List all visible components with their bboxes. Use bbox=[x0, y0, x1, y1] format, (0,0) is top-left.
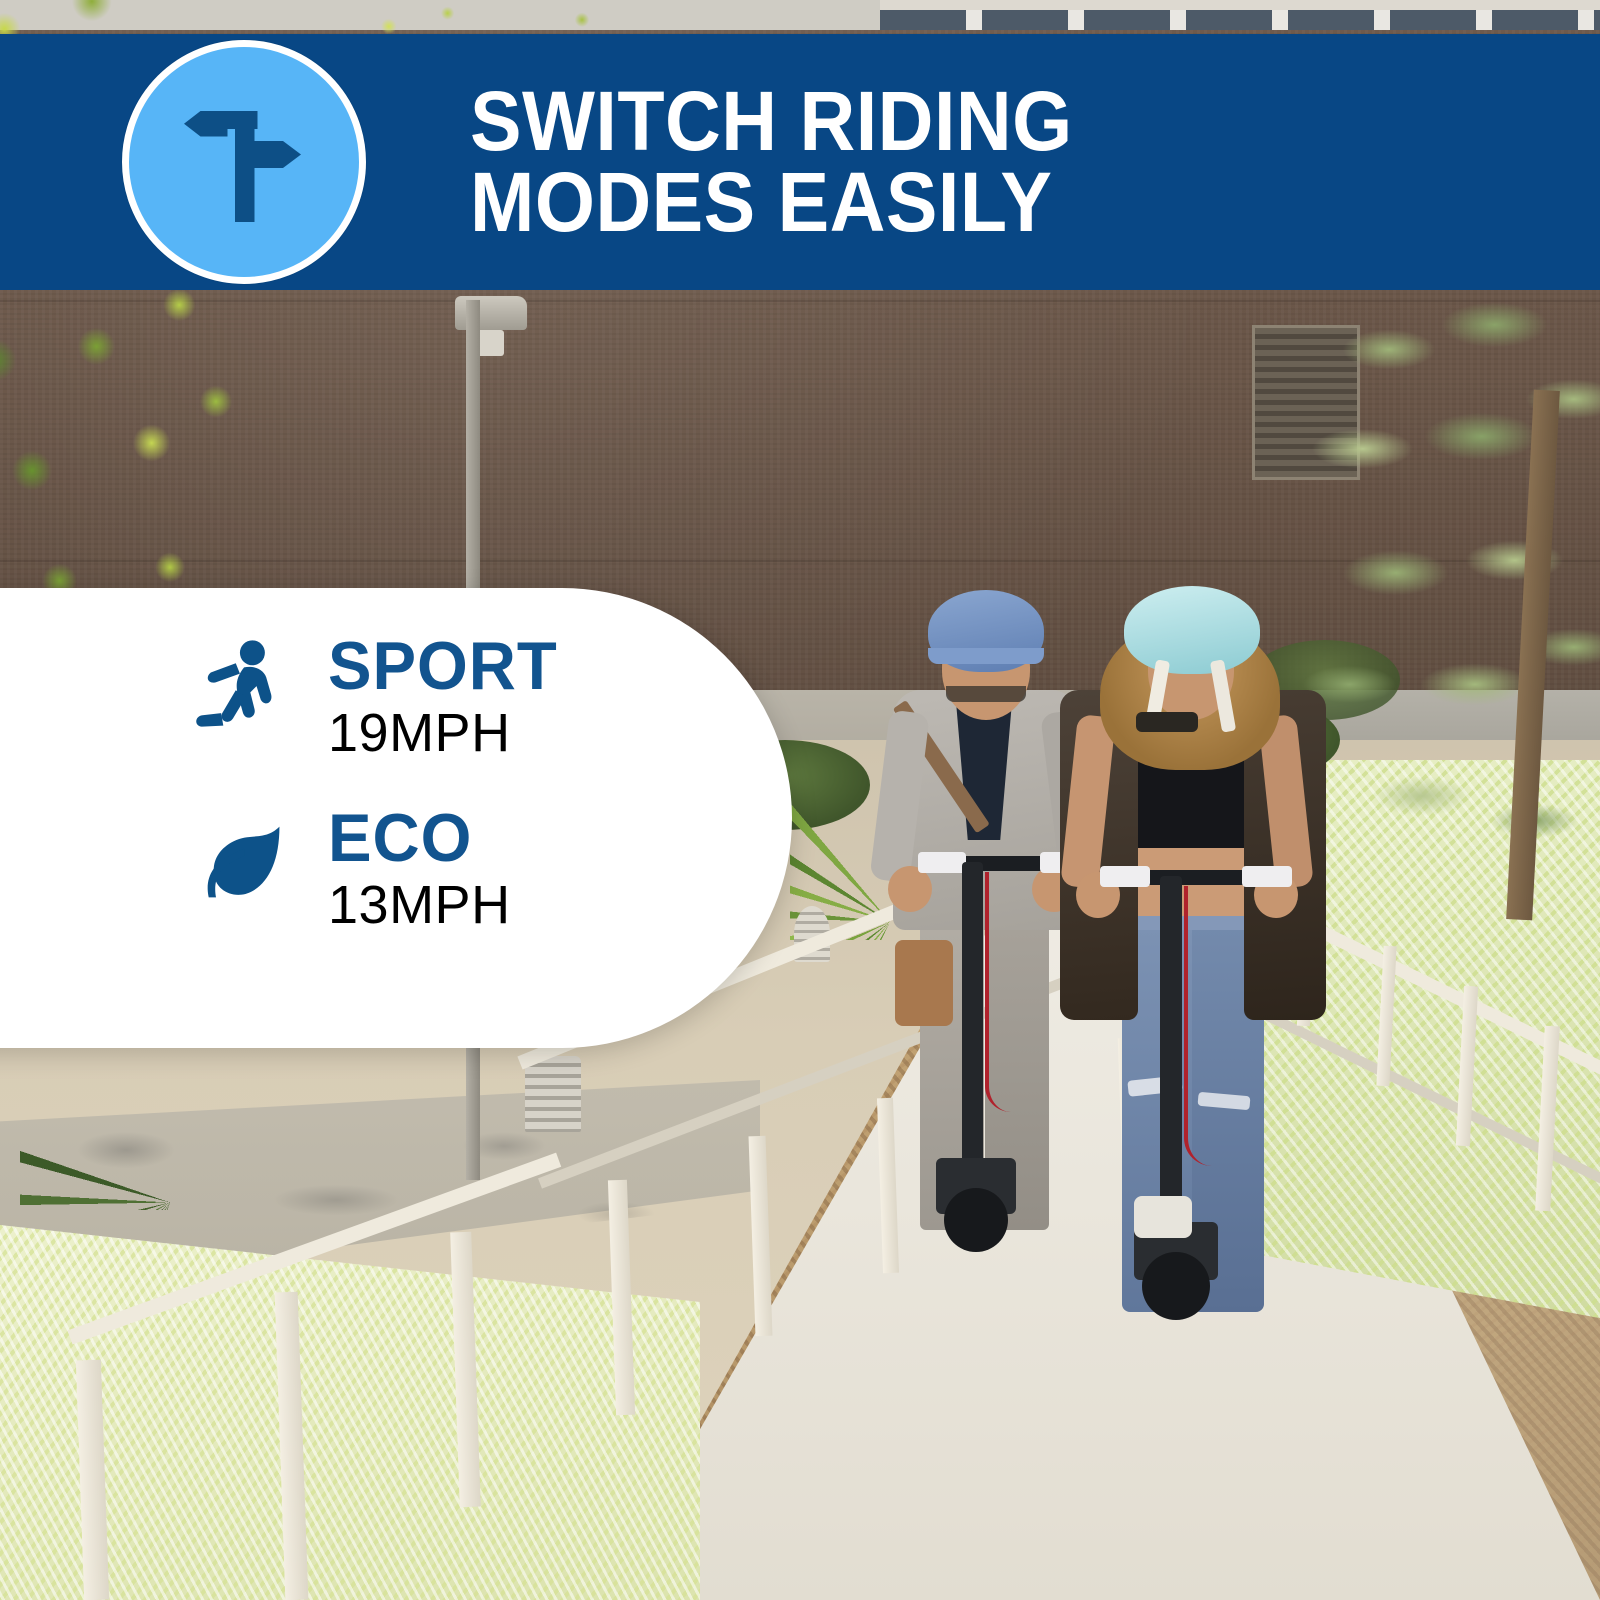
female-scooter-wheel bbox=[1142, 1252, 1210, 1320]
male-scooter-cable bbox=[985, 872, 1011, 1112]
male-helmet-brim bbox=[928, 648, 1044, 664]
female-shoe bbox=[1134, 1196, 1192, 1238]
male-bag bbox=[895, 940, 953, 1026]
female-scooter-grip bbox=[1100, 866, 1150, 887]
poster-canvas: SWITCH RIDING MODES EASILY bbox=[0, 0, 1600, 1600]
male-scooter-stem bbox=[962, 862, 983, 1172]
mode-name-sport: SPORT bbox=[328, 632, 558, 700]
riding-modes-card: SPORT 19MPH ECO 13MPH bbox=[0, 588, 792, 1048]
mode-speed-eco: 13MPH bbox=[328, 874, 511, 938]
female-scooter-stem bbox=[1160, 876, 1182, 1236]
male-scooter-wheel bbox=[944, 1188, 1008, 1252]
mode-speed-sport: 19MPH bbox=[328, 702, 567, 766]
spiky-plant bbox=[20, 1060, 320, 1210]
mode-text-eco: ECO 13MPH bbox=[328, 804, 511, 938]
male-chin-strap bbox=[946, 686, 1026, 702]
riding-modes-list: SPORT 19MPH ECO 13MPH bbox=[190, 632, 567, 937]
mode-row-sport[interactable]: SPORT 19MPH bbox=[190, 632, 567, 766]
male-scooter-grip bbox=[918, 852, 966, 873]
mode-text-sport: SPORT 19MPH bbox=[328, 632, 567, 766]
leaf-icon bbox=[190, 810, 294, 914]
female-choker bbox=[1136, 712, 1198, 732]
signpost-directions-icon bbox=[122, 40, 366, 284]
page-title: SWITCH RIDING MODES EASILY bbox=[470, 81, 1073, 242]
mode-row-eco[interactable]: ECO 13MPH bbox=[190, 804, 567, 938]
mode-name-eco: ECO bbox=[328, 804, 503, 872]
female-helmet bbox=[1124, 586, 1260, 674]
lamp-head bbox=[476, 330, 504, 356]
female-scooter-grip bbox=[1242, 866, 1292, 887]
female-scooter-cable bbox=[1184, 886, 1212, 1166]
running-person-icon bbox=[190, 632, 294, 736]
path-bollard bbox=[525, 1056, 581, 1132]
